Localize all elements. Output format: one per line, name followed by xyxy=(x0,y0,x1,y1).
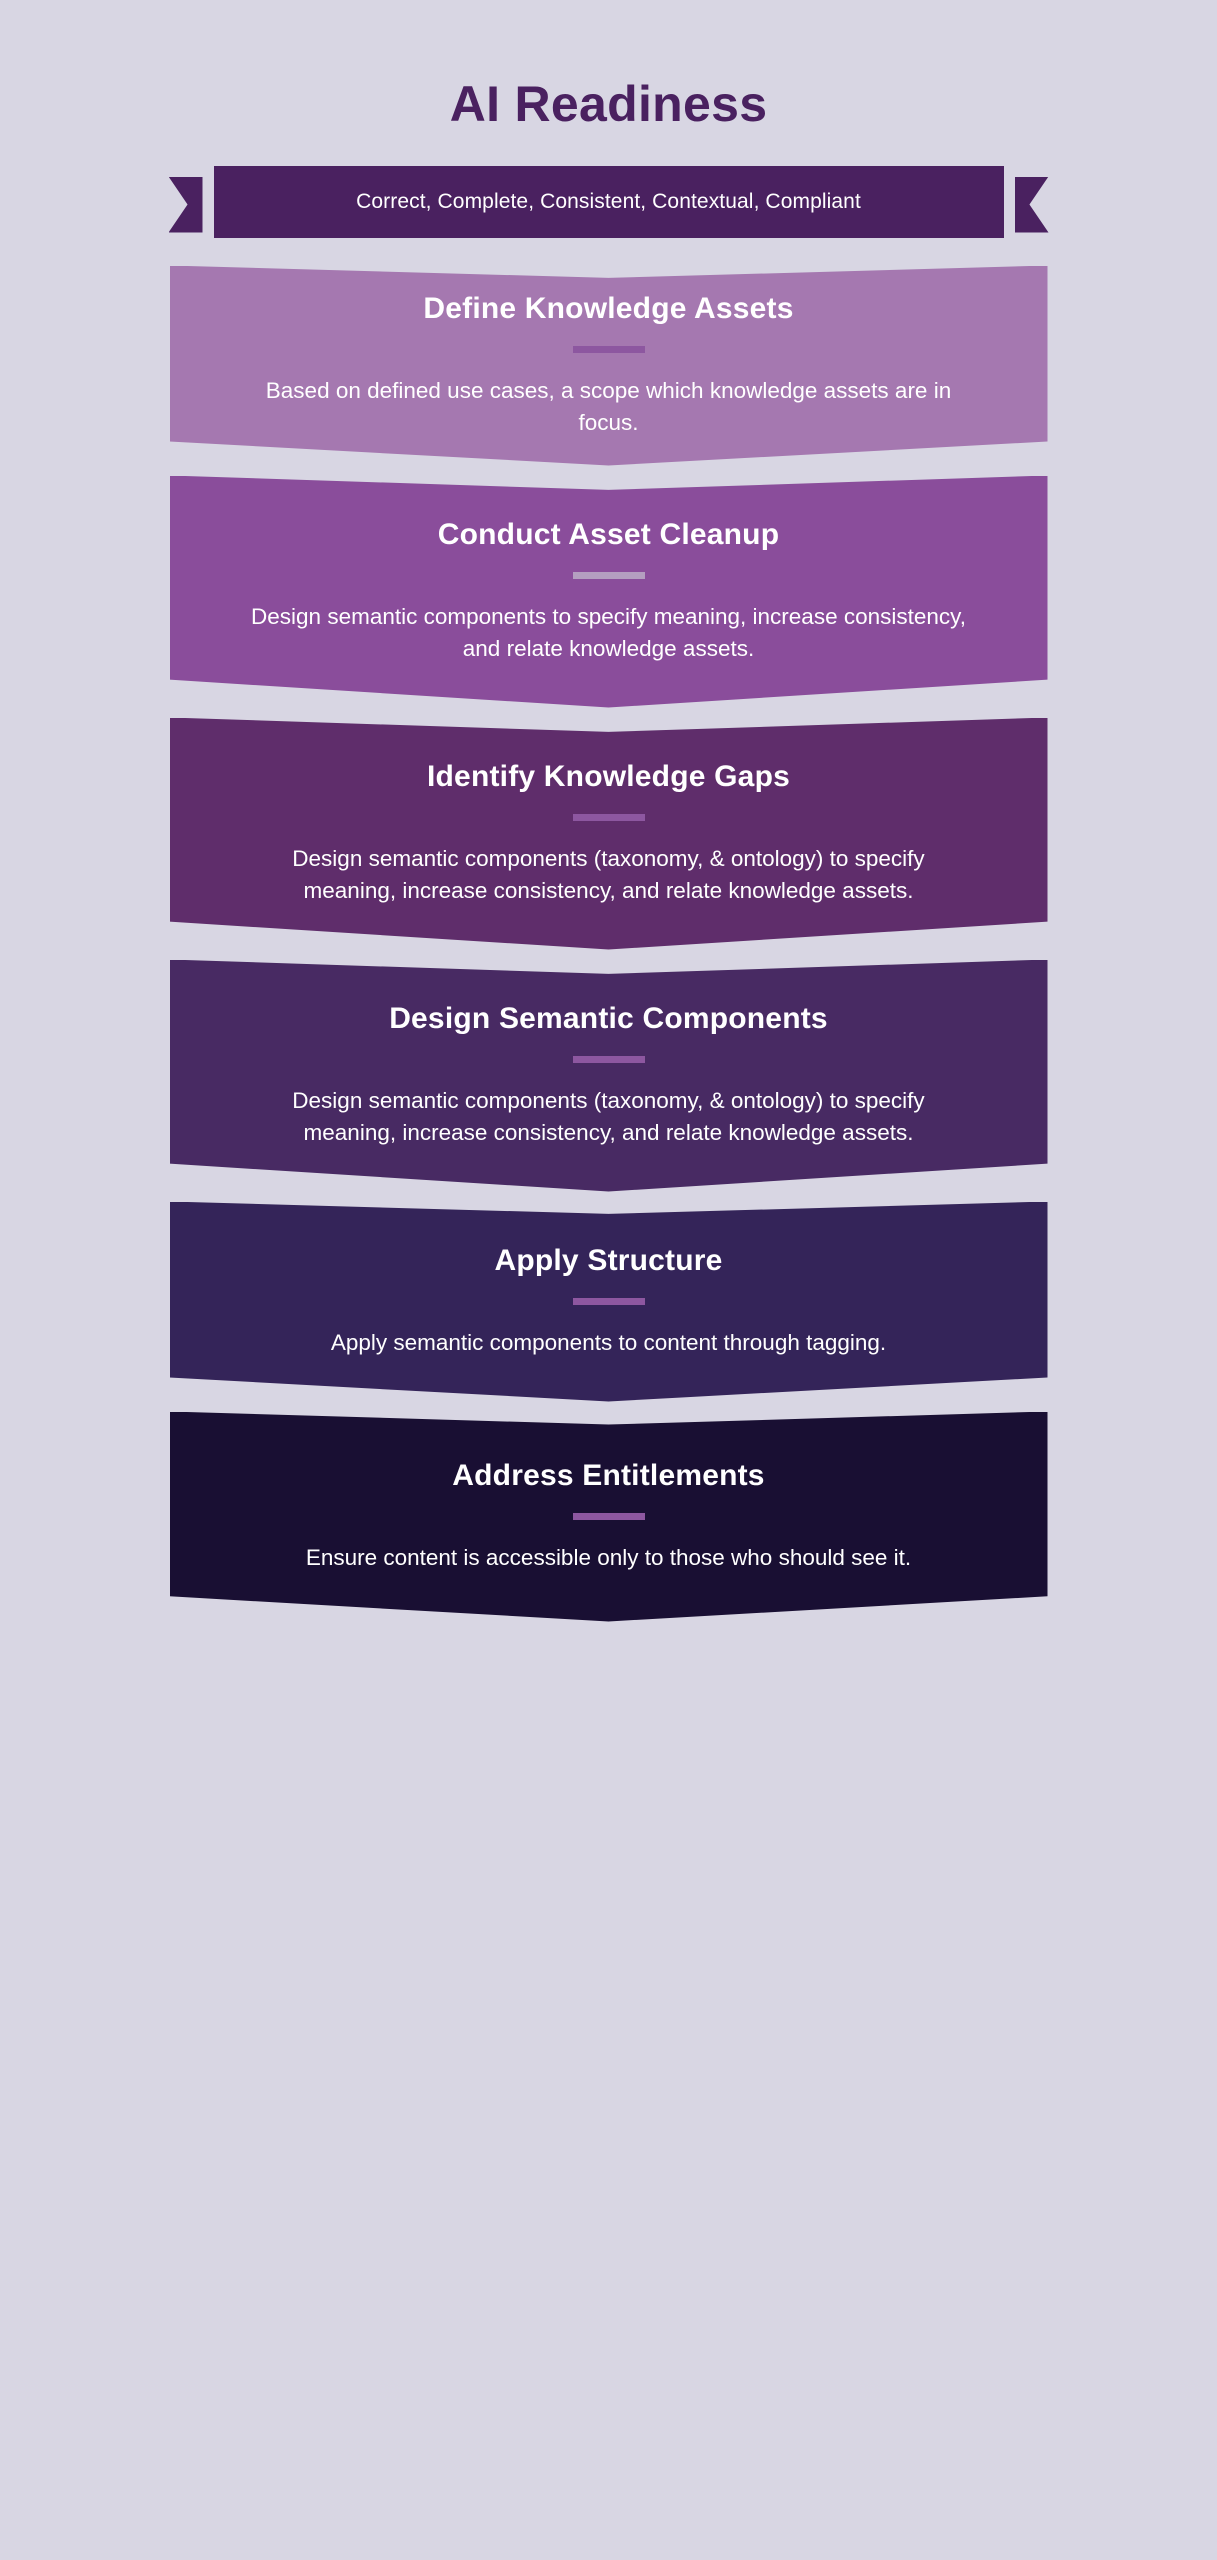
step-title: Conduct Asset Cleanup xyxy=(408,518,809,553)
step-description: Design semantic components (taxonomy, & … xyxy=(197,843,1021,907)
step-divider xyxy=(573,572,645,579)
step-divider xyxy=(573,1298,645,1305)
chevron-step: Conduct Asset CleanupDesign semantic com… xyxy=(170,476,1048,708)
header: AI Readiness Correct, Complete, Consiste… xyxy=(0,0,1217,244)
infographic-canvas: { "header": { "title": "AI Readiness", "… xyxy=(0,0,1217,2560)
step-title: Design Semantic Components xyxy=(359,1002,858,1037)
chevron-step-list: Define Knowledge AssetsBased on defined … xyxy=(170,266,1048,1622)
step-divider xyxy=(573,346,645,353)
ribbon-tail-left-icon xyxy=(169,177,203,233)
step-description: Design semantic components (taxonomy, & … xyxy=(197,1085,1021,1149)
chevron-step: Apply StructureApply semantic components… xyxy=(170,1202,1048,1402)
step-title: Address Entitlements xyxy=(422,1459,794,1494)
chevron-step: Address EntitlementsEnsure content is ac… xyxy=(170,1412,1048,1622)
ribbon-banner: Correct, Complete, Consistent, Contextua… xyxy=(169,166,1049,244)
page-title: AI Readiness xyxy=(0,78,1217,131)
step-title: Apply Structure xyxy=(464,1244,752,1279)
step-description: Design semantic components to specify me… xyxy=(197,601,1021,665)
step-description: Ensure content is accessible only to tho… xyxy=(254,1542,963,1574)
step-description: Apply semantic components to content thr… xyxy=(279,1327,938,1359)
step-title: Identify Knowledge Gaps xyxy=(397,760,820,795)
step-divider xyxy=(573,814,645,821)
chevron-step: Define Knowledge AssetsBased on defined … xyxy=(170,266,1048,466)
step-divider xyxy=(573,1513,645,1520)
ribbon-tail-right-icon xyxy=(1015,177,1049,233)
step-divider xyxy=(573,1056,645,1063)
step-title: Define Knowledge Assets xyxy=(393,292,823,327)
step-description: Based on defined use cases, a scope whic… xyxy=(197,375,1021,439)
chevron-step: Design Semantic ComponentsDesign semanti… xyxy=(170,960,1048,1192)
ribbon-text: Correct, Complete, Consistent, Contextua… xyxy=(356,190,861,214)
ribbon-body: Correct, Complete, Consistent, Contextua… xyxy=(214,166,1004,238)
chevron-step: Identify Knowledge GapsDesign semantic c… xyxy=(170,718,1048,950)
